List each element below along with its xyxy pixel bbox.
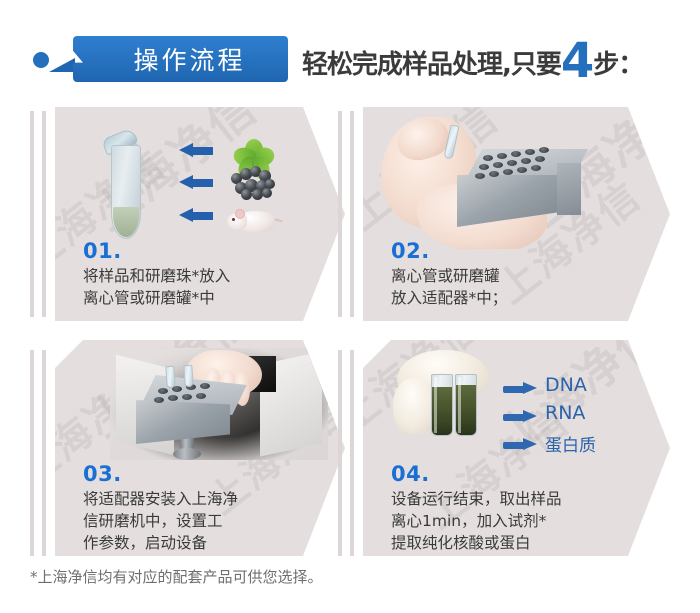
left-arrow-icon [179, 175, 213, 189]
deco-bar [30, 350, 34, 556]
deco-bar [30, 111, 34, 317]
step-description: 将适配器安装入上海净 信研磨机中，设置工 作参数，启动设备 [83, 488, 323, 554]
left-arrow-icon [179, 208, 213, 222]
infographic-page: 操作流程 轻松完成样品处理,只要 4 步： 上海净信 上海净信 [0, 0, 700, 613]
sample-tube-icon [431, 374, 453, 436]
headline-part2: 步： [593, 44, 643, 81]
step-number: 04. [391, 462, 430, 486]
sample-tube-icon [455, 374, 477, 436]
steel-beads-icon [229, 163, 277, 199]
left-arrow-icon [179, 143, 213, 157]
bullet-dot-icon [33, 52, 49, 68]
step-number: 02. [391, 239, 430, 263]
banner-tail-shape [49, 58, 75, 72]
step-description: 设备运行结束，取出样品 离心1min，加入试剂* 提取纯化核酸或蛋白 [391, 488, 653, 554]
output-label-protein: 蛋白质 [545, 431, 596, 456]
step-panel: 上海净信 上海净信 上海净信 [363, 107, 670, 321]
page-headline: 轻松完成样品处理,只要 4 步： [302, 38, 643, 86]
step-description: 离心管或研磨罐 放入适配器*中； [391, 265, 626, 309]
deco-bar [338, 350, 342, 556]
headline-part1: 轻松完成样品处理,只要 [302, 44, 561, 81]
headline-number: 4 [561, 42, 593, 80]
green-leaf-icon [230, 125, 276, 165]
step-number: 03. [83, 462, 122, 486]
right-arrow-icon [503, 410, 537, 423]
output-label-rna: RNA [545, 402, 585, 424]
step-panel: 上海净信 上海净信 上海净信 DNA RNA 蛋白质 [363, 340, 670, 556]
deco-bar [350, 111, 354, 317]
deco-bar [338, 111, 342, 317]
white-mouse-icon [227, 203, 281, 237]
step-panel: 上海净信 上海净信 [55, 107, 345, 321]
footer-note: *上海净信均有对应的配套产品可供您选择。 [30, 566, 323, 587]
banner-label: 操作流程 [73, 36, 288, 82]
step-01-artwork [75, 115, 325, 245]
step-description: 将样品和研磨珠*放入 离心管或研磨罐*中 [83, 265, 318, 309]
step-03-photo [110, 348, 328, 460]
adapter-block-side [557, 163, 581, 215]
right-arrow-icon [503, 438, 537, 451]
step-number: 01. [83, 239, 122, 263]
page-header: 操作流程 轻松完成样品处理,只要 4 步： [0, 22, 700, 94]
step-02-photo [381, 109, 611, 249]
centrifuge-tube-icon [103, 133, 149, 241]
deco-bar [350, 350, 354, 556]
right-arrow-icon [503, 382, 537, 395]
output-label-dna: DNA [545, 374, 587, 396]
step-panel: 上海净信 上海净信 上海净信 上海净信 [55, 340, 345, 556]
deco-bar [42, 350, 46, 556]
deco-bar [42, 111, 46, 317]
